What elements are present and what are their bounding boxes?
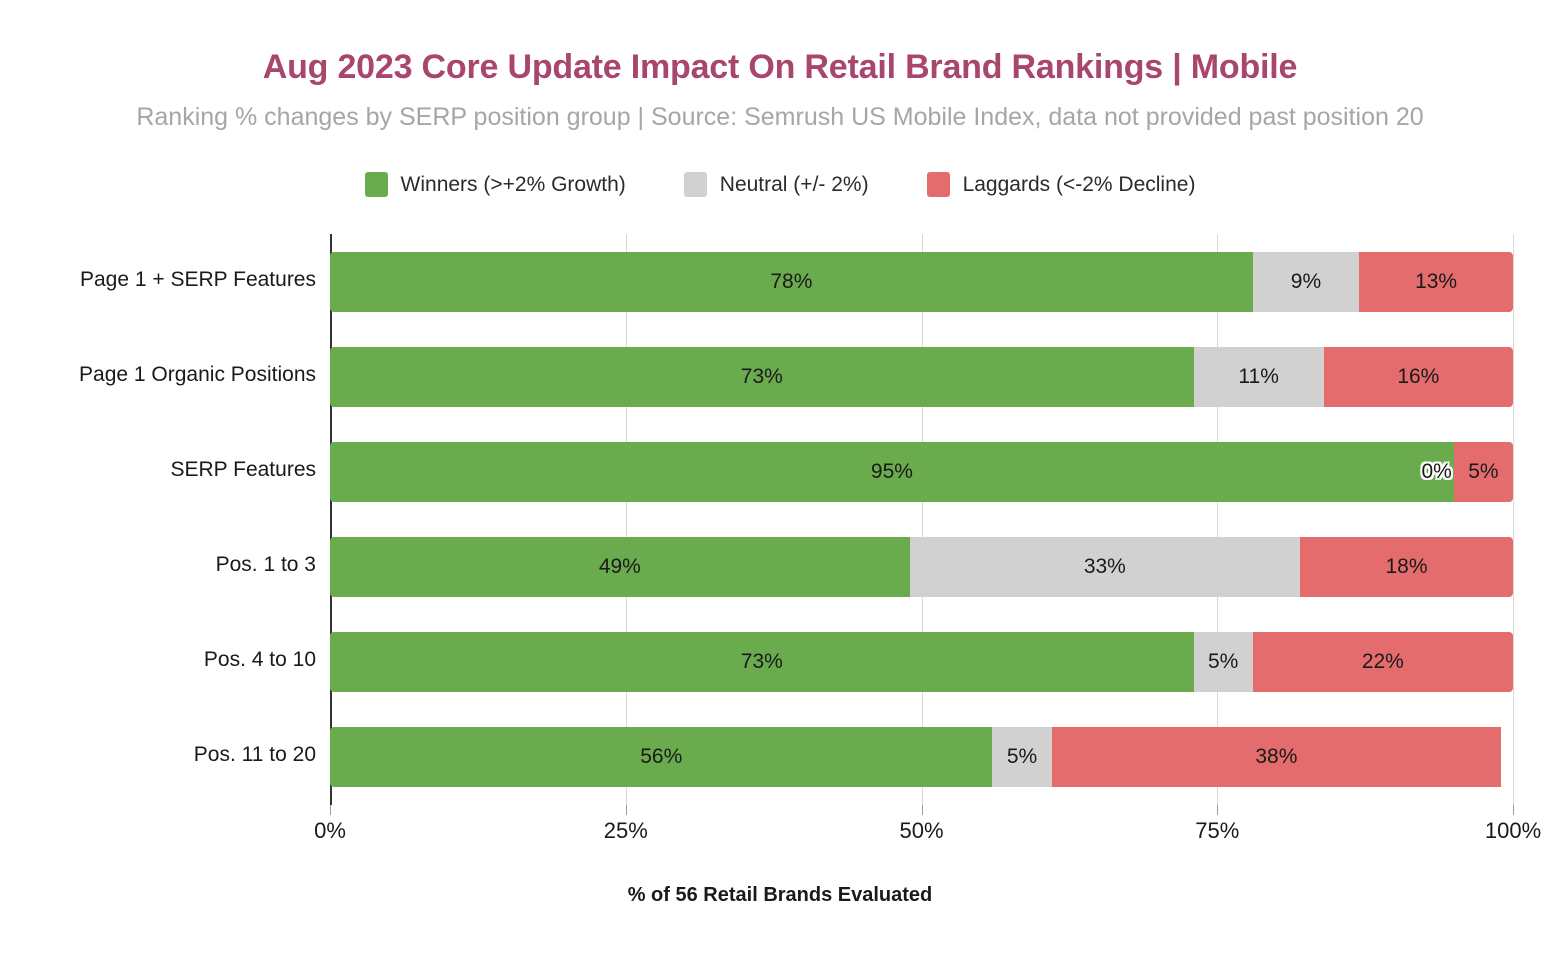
x-tick-mark-25% bbox=[626, 805, 627, 815]
bar-segment[interactable]: 5% bbox=[992, 727, 1051, 787]
bar-segment-label: 18% bbox=[1385, 555, 1427, 579]
bar-row[interactable]: 95%5%0% bbox=[330, 442, 1513, 502]
y-axis-category-label: Pos. 1 to 3 bbox=[16, 553, 316, 577]
bar-segment[interactable]: 38% bbox=[1052, 727, 1502, 787]
bar-segment-label: 56% bbox=[640, 745, 682, 769]
bar-segment-label: 9% bbox=[1291, 270, 1321, 294]
x-tick-label-100%: 100% bbox=[1485, 818, 1541, 844]
bar-segment[interactable]: 13% bbox=[1359, 252, 1513, 312]
legend-swatch-neutral bbox=[684, 172, 707, 197]
bar-segment[interactable]: 78% bbox=[330, 252, 1253, 312]
bar-segment-label: 33% bbox=[1084, 555, 1126, 579]
x-tick-mark-75% bbox=[1217, 805, 1218, 815]
bar-segment-label: 5% bbox=[1007, 745, 1037, 769]
bar-segment-label: 73% bbox=[741, 365, 783, 389]
x-tick-label-25%: 25% bbox=[604, 818, 648, 844]
y-axis-category-label: Page 1 + SERP Features bbox=[16, 268, 316, 292]
x-tick-label-0%: 0% bbox=[314, 818, 346, 844]
legend-swatch-winners bbox=[365, 172, 388, 197]
legend-item-neutral[interactable]: Neutral (+/- 2%) bbox=[684, 172, 869, 197]
bar-segment[interactable]: 5%0% bbox=[1454, 442, 1513, 502]
bar-segment[interactable]: 18% bbox=[1300, 537, 1513, 597]
bar-segment-label: 49% bbox=[599, 555, 641, 579]
bar-row[interactable]: 73%11%16% bbox=[330, 347, 1513, 407]
bar-row[interactable]: 78%9%13% bbox=[330, 252, 1513, 312]
bar-segment[interactable]: 11% bbox=[1194, 347, 1324, 407]
bar-segment-label: 11% bbox=[1238, 365, 1278, 389]
legend-swatch-laggards bbox=[927, 172, 950, 197]
x-axis-title: % of 56 Retail Brands Evaluated bbox=[0, 884, 1560, 907]
bar-segment[interactable]: 73% bbox=[330, 347, 1194, 407]
bar-segment-label: 5% bbox=[1468, 460, 1498, 484]
legend-label-neutral: Neutral (+/- 2%) bbox=[720, 173, 869, 197]
chart-title: Aug 2023 Core Update Impact On Retail Br… bbox=[0, 48, 1560, 87]
legend-item-winners[interactable]: Winners (>+2% Growth) bbox=[365, 172, 626, 197]
legend-label-winners: Winners (>+2% Growth) bbox=[401, 173, 626, 197]
bar-segment[interactable]: 5% bbox=[1194, 632, 1253, 692]
chart-subtitle: Ranking % changes by SERP position group… bbox=[0, 103, 1560, 132]
bar-segment-label: 78% bbox=[770, 270, 812, 294]
bar-segment[interactable]: 73% bbox=[330, 632, 1194, 692]
x-tick-mark-0% bbox=[330, 805, 331, 815]
chart-legend: Winners (>+2% Growth)Neutral (+/- 2%)Lag… bbox=[0, 172, 1560, 197]
y-axis-category-label: Pos. 4 to 10 bbox=[16, 648, 316, 672]
bar-segment-label: 13% bbox=[1415, 270, 1457, 294]
bar-row[interactable]: 73%5%22% bbox=[330, 632, 1513, 692]
plot-area: 78%9%13%73%11%16%95%5%0%49%33%18%73%5%22… bbox=[330, 234, 1513, 805]
bar-segment[interactable]: 16% bbox=[1324, 347, 1513, 407]
bar-segment[interactable]: 33% bbox=[910, 537, 1300, 597]
legend-item-laggards[interactable]: Laggards (<-2% Decline) bbox=[927, 172, 1196, 197]
bar-row[interactable]: 49%33%18% bbox=[330, 537, 1513, 597]
bar-segment-label: 22% bbox=[1362, 650, 1404, 674]
bar-segment-label: 73% bbox=[741, 650, 783, 674]
bar-segment-label: 38% bbox=[1255, 745, 1297, 769]
x-tick-label-75%: 75% bbox=[1195, 818, 1239, 844]
y-axis-category-label: Page 1 Organic Positions bbox=[16, 363, 316, 387]
bar-segment-label: 16% bbox=[1397, 365, 1439, 389]
y-axis-category-label: Pos. 11 to 20 bbox=[16, 743, 316, 767]
bar-segment-label: 95% bbox=[871, 460, 913, 484]
bar-segment[interactable]: 9% bbox=[1253, 252, 1359, 312]
bar-segment[interactable]: 56% bbox=[330, 727, 992, 787]
y-axis-category-label: SERP Features bbox=[16, 458, 316, 482]
gridline-100% bbox=[1513, 234, 1514, 805]
x-tick-mark-100% bbox=[1513, 805, 1514, 815]
bar-row[interactable]: 56%5%38% bbox=[330, 727, 1513, 787]
bar-rows: 78%9%13%73%11%16%95%5%0%49%33%18%73%5%22… bbox=[330, 234, 1513, 805]
bar-segment-label: 5% bbox=[1208, 650, 1238, 674]
x-tick-label-50%: 50% bbox=[899, 818, 943, 844]
legend-label-laggards: Laggards (<-2% Decline) bbox=[963, 173, 1196, 197]
bar-segment[interactable]: 95% bbox=[330, 442, 1454, 502]
chart-container: Aug 2023 Core Update Impact On Retail Br… bbox=[0, 0, 1560, 958]
bar-segment[interactable]: 49% bbox=[330, 537, 910, 597]
bar-segment[interactable]: 22% bbox=[1253, 632, 1513, 692]
x-tick-mark-50% bbox=[922, 805, 923, 815]
